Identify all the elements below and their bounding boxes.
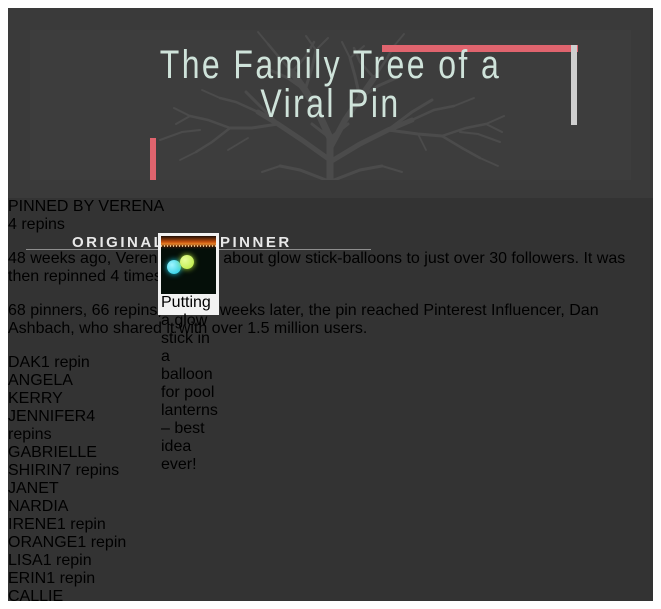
- tree-node-name: IRENE: [8, 516, 57, 533]
- tree-node[interactable]: IRENE1 repin: [8, 516, 128, 534]
- tree-node-name: NARDIA: [8, 498, 68, 515]
- stat-48-weeks: 48 weeks: [8, 250, 76, 267]
- callout-text-2h: , who shared it with over: [70, 320, 247, 337]
- tree-node-repins: 1 repin: [43, 552, 92, 569]
- tree-node-name: SHIRIN: [8, 462, 62, 479]
- stats-callout: 48 weeks ago, Verena pinned about glow s…: [8, 250, 653, 338]
- callout-text-2f: weeks later, the pin reached Pinterest I…: [215, 302, 569, 319]
- tree-node-name: KERRY: [8, 390, 63, 407]
- original-label: ORIGINAL: [72, 234, 165, 251]
- tree-node[interactable]: NARDIA: [8, 498, 128, 516]
- tree-node-name: ANGELA: [8, 372, 73, 389]
- tree-node[interactable]: ORANGE1 repin: [8, 534, 128, 552]
- tree-node-name: GABRIELLE: [8, 444, 97, 461]
- pinned-by-repins: 4 repins: [8, 216, 653, 234]
- callout-paragraph-1: 48 weeks ago, Verena pinned about glow s…: [8, 250, 653, 286]
- tree-node[interactable]: ERIN1 repin: [8, 570, 128, 588]
- stat-68: 68: [8, 302, 26, 319]
- tree-node-name: CALLIE: [8, 588, 63, 601]
- page-title: The Family Tree of a Viral Pin: [73, 46, 589, 124]
- tree-node-name: JANET: [8, 480, 59, 497]
- tree-node[interactable]: DAK1 repin: [8, 354, 128, 372]
- balloon-yellow-green: [180, 255, 194, 269]
- sunset-sky: [161, 236, 216, 249]
- infographic-body: ORIGINAL PINNER Putting a glow stick in …: [8, 198, 653, 601]
- callout-paragraph-2: 68 pinners, 66 repins, and 32 weeks late…: [8, 302, 653, 338]
- callout-text-1b: ago, Verena pinned about glow stick-ball…: [76, 250, 490, 267]
- tree-node-repins: 1 repin: [77, 534, 126, 551]
- family-tree-diagram: DAK1 repinANGELAKERRYJENNIFER4 repinsGAB…: [8, 354, 653, 601]
- tree-node[interactable]: SHIRIN7 repins: [8, 462, 128, 480]
- tree-node[interactable]: ANGELA: [8, 372, 128, 390]
- title-line-2: Viral Pin: [73, 85, 589, 124]
- accent-bar-left: [150, 138, 156, 180]
- tree-node-name: ORANGE: [8, 534, 77, 551]
- tree-node[interactable]: GABRIELLE: [8, 444, 128, 462]
- pin-photo: [161, 236, 216, 294]
- header-banner: The Family Tree of a Viral Pin: [8, 8, 653, 198]
- tree-node-repins: 7 repins: [62, 462, 119, 479]
- tree-node-name: JENNIFER: [8, 408, 86, 425]
- tree-node[interactable]: KERRY: [8, 390, 128, 408]
- balloon-cyan: [167, 260, 181, 274]
- title-line-1: The Family Tree of a: [160, 43, 501, 87]
- stat-66: 66: [92, 302, 110, 319]
- pin-caption: Putting a glow stick in a balloon for po…: [161, 294, 216, 474]
- callout-wrapper: 48 weeks ago, Verena pinned about glow s…: [8, 250, 653, 338]
- tree-node[interactable]: LISA1 repin: [8, 552, 128, 570]
- tree-node-name: DAK: [8, 354, 41, 371]
- tree-node-repins: 1 repin: [57, 516, 106, 533]
- stat-1-5-million: 1.5 million: [247, 320, 319, 337]
- stat-repinned-4: repinned 4: [44, 268, 120, 285]
- balloon-green: [194, 257, 207, 270]
- tree-node-name: ERIN: [8, 570, 46, 587]
- pinned-by-label: PINNED BY VERENA: [8, 198, 653, 216]
- pin-thumbnail-card[interactable]: Putting a glow stick in a balloon for po…: [158, 233, 219, 315]
- tree-node-repins: 1 repin: [41, 354, 90, 371]
- infographic-frame: The Family Tree of a Viral Pin ORIGINAL …: [8, 8, 653, 601]
- tree-node[interactable]: CALLIE: [8, 588, 128, 601]
- callout-text-2j: users.: [319, 320, 367, 337]
- tree-node[interactable]: JANET: [8, 480, 128, 498]
- stat-30-followers: 30 followers: [489, 250, 574, 267]
- tree-node[interactable]: JENNIFER4 repins: [8, 408, 128, 444]
- callout-text-2b: pinners,: [26, 302, 92, 319]
- tree-node-name: LISA: [8, 552, 43, 569]
- tree-node-repins: 1 repin: [46, 570, 95, 587]
- pinner-label: PINNER: [220, 234, 292, 251]
